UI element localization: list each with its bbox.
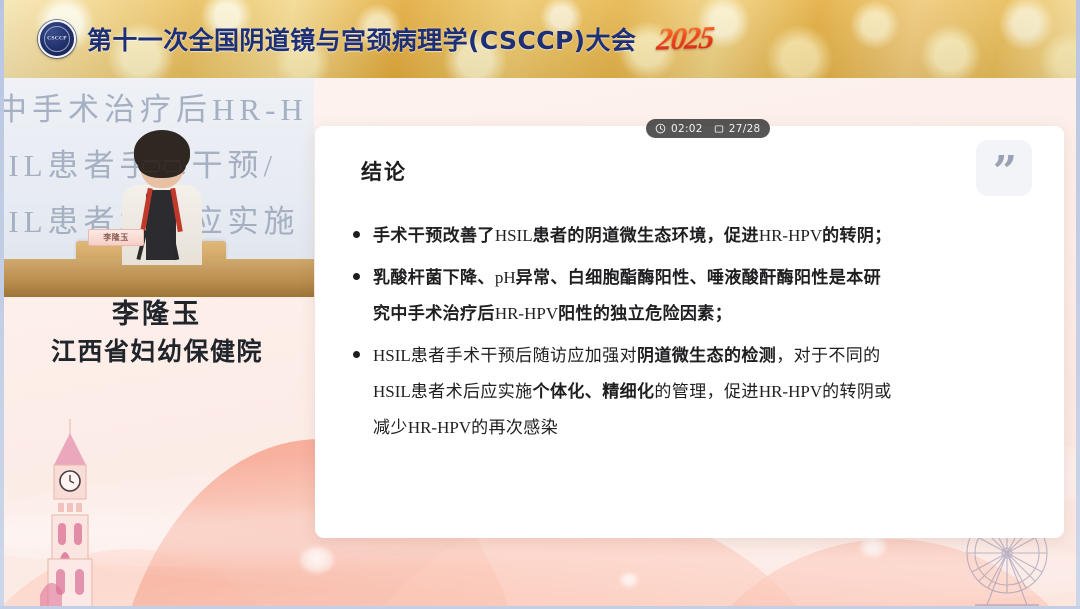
- speaker-glasses: [143, 160, 181, 169]
- bullet-segment: 的再次感染: [471, 418, 558, 438]
- speaker-organization: 江西省妇幼保健院: [0, 335, 314, 369]
- bullet-line: 乳酸杆菌下降、pH异常、白细胞酯酶阳性、唾液酸酐酶阳性是本研: [373, 260, 881, 296]
- banner-title: 第十一次全国阴道镜与宫颈病理学(CSCCP)大会: [87, 21, 636, 57]
- bullet-segment: 减少: [373, 418, 408, 438]
- bullet-line: HSIL患者术后应实施个体化、精细化的管理，促进HR-HPV的转阴或: [373, 374, 892, 410]
- bullet-line: HSIL患者手术干预后随访应加强对阴道微生态的检测，对于不同的: [373, 338, 892, 374]
- slide-bullet: HSIL患者手术干预后随访应加强对阴道微生态的检测，对于不同的HSIL患者术后应…: [353, 338, 1046, 446]
- bullet-text: 手术干预改善了HSIL患者的阴道微生态环境，促进HR-HPV的转阴；: [373, 218, 892, 254]
- slide-divider: [315, 202, 1064, 203]
- screenshot-root: CSCCP 第十一次全国阴道镜与宫颈病理学(CSCCP)大会 2025: [0, 0, 1080, 609]
- page-edge-left: [0, 0, 4, 609]
- heart-bokeh-2: [860, 537, 886, 557]
- slide-icon: [714, 124, 724, 134]
- csccp-logo-icon: CSCCP: [38, 20, 76, 58]
- bullet-segment: 的管理，促进: [654, 382, 758, 402]
- bullet-segment: ，对于不同的: [776, 346, 880, 366]
- bullet-segment: 是本研: [829, 268, 881, 288]
- bullet-segment: 手术干预改善了: [373, 226, 495, 246]
- bullet-segment: 乳酸杆菌下降、: [373, 268, 495, 288]
- mountain-far-right: [660, 539, 1080, 609]
- bullet-segment: ，促进: [707, 226, 759, 246]
- playback-status-pill: 02:02 27/28: [646, 119, 770, 138]
- bullet-segment: 阴道微生态环境: [585, 226, 707, 246]
- bullet-dot-icon: [353, 351, 360, 358]
- bullet-text: 乳酸杆菌下降、pH异常、白细胞酯酶阳性、唾液酸酐酶阳性是本研究中手术治疗后HR-…: [373, 260, 881, 332]
- slide-bullet-list: 手术干预改善了HSIL患者的阴道微生态环境，促进HR-HPV的转阴；乳酸杆菌下降…: [353, 218, 1046, 452]
- bullet-segment: 患者术后应实施: [411, 382, 533, 402]
- slide-counter: 27/28: [729, 123, 761, 135]
- clock-icon: [655, 123, 666, 134]
- wall-slide-line-1: 中手术治疗后HR-H: [0, 84, 308, 129]
- conference-banner: CSCCP 第十一次全国阴道镜与宫颈病理学(CSCCP)大会 2025: [0, 0, 1080, 78]
- bullet-segment: HR-HPV: [408, 418, 471, 437]
- bullet-segment: HSIL: [373, 382, 411, 401]
- bullet-segment: 的转阴或: [822, 382, 892, 402]
- bullet-line: 手术干预改善了HSIL患者的阴道微生态环境，促进HR-HPV的转阴；: [373, 218, 892, 254]
- elapsed-time: 02:02: [671, 123, 703, 135]
- bullet-segment: 患者手术干预后随访应加强对: [411, 346, 637, 366]
- bullet-dot-icon: [353, 273, 360, 280]
- bullet-segment: 究中手术治疗后: [373, 304, 495, 324]
- bullet-dot-icon: [353, 231, 360, 238]
- bullet-segment: pH: [495, 268, 516, 287]
- bullet-segment: 阳性的独立危险因素；: [558, 304, 732, 324]
- bullet-segment: 的转阴；: [822, 226, 892, 246]
- bullet-line: 减少HR-HPV的再次感染: [373, 410, 892, 446]
- bullet-segment: 异常、白细胞酯酶阳性、唾液酸酐酶阳性: [516, 268, 829, 288]
- banner-year-logo: 2025: [655, 20, 716, 58]
- bullet-segment: HR-HPV: [759, 382, 822, 401]
- bullet-segment: HR-HPV: [759, 226, 822, 245]
- bullet-text: HSIL患者手术干预后随访应加强对阴道微生态的检测，对于不同的HSIL患者术后应…: [373, 338, 892, 446]
- bullet-segment: HR-HPV: [495, 304, 558, 323]
- logo-text: CSCCP: [40, 36, 74, 43]
- speaker-info: 李隆玉 江西省妇幼保健院: [0, 297, 314, 369]
- page-edge-right: [1076, 0, 1080, 609]
- slide-bullet: 乳酸杆菌下降、pH异常、白细胞酯酶阳性、唾液酸酐酶阳性是本研究中手术治疗后HR-…: [353, 260, 1046, 332]
- heart-bokeh-3: [620, 573, 638, 587]
- slide-bullet: 手术干预改善了HSIL患者的阴道微生态环境，促进HR-HPV的转阴；: [353, 218, 1046, 254]
- mountain-back-left: [0, 549, 320, 609]
- bullet-segment: 个体化、精细化: [533, 382, 655, 402]
- podium-name-placard: 李隆玉: [88, 229, 144, 246]
- bullet-segment: 患者的: [533, 226, 585, 246]
- quote-badge: ”: [976, 140, 1032, 196]
- bullet-segment: HSIL: [495, 226, 533, 245]
- banner-content: CSCCP 第十一次全国阴道镜与宫颈病理学(CSCCP)大会 2025: [38, 0, 713, 78]
- bullet-line: 究中手术治疗后HR-HPV阳性的独立危险因素；: [373, 296, 881, 332]
- slide-title: 结论: [361, 156, 407, 186]
- bullet-segment: HSIL: [373, 346, 411, 365]
- speaker-name: 李隆玉: [0, 297, 314, 333]
- speaker-video[interactable]: 中手术治疗后HR-H SIL患者手术干预/ SIL患者术后应实施 李隆玉: [0, 78, 314, 297]
- heart-bokeh-1: [300, 547, 334, 573]
- slide-card: 结论 ” 手术干预改善了HSIL患者的阴道微生态环境，促进HR-HPV的转阴；乳…: [315, 126, 1064, 538]
- clock-tower-icon: [40, 419, 100, 609]
- bullet-segment: 阴道微生态的检测: [637, 346, 776, 366]
